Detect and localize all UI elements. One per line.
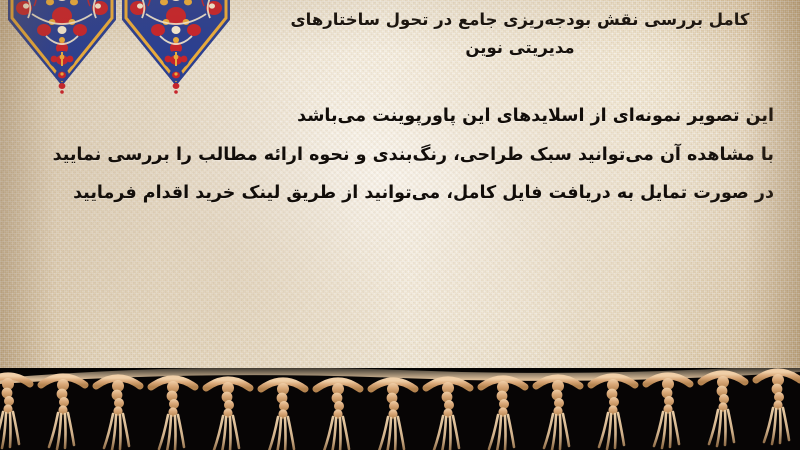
slide-title-line-1: کامل بررسی نقش بودجه‌ریزی جامع در تحول س… (250, 6, 790, 34)
slide-body-text: این تصویر نمونه‌ای از اسلایدهای این پاور… (24, 108, 774, 224)
slide-title-line-2: مدیریتی نوین (250, 34, 790, 62)
slide-body-line: این تصویر نمونه‌ای از اسلایدهای این پاور… (24, 108, 774, 126)
slide-body-line: در صورت تمایل به دریافت فایل کامل، می‌تو… (24, 185, 774, 203)
slide-title: کامل بررسی نقش بودجه‌ریزی جامع در تحول س… (250, 6, 790, 63)
carpet-fringe-icon (0, 340, 800, 450)
slide-canvas: کامل بررسی نقش بودجه‌ریزی جامع در تحول س… (0, 0, 800, 450)
slide-body-line: با مشاهده آن می‌توانید سبک طراحی، رنگ‌بن… (24, 147, 774, 165)
